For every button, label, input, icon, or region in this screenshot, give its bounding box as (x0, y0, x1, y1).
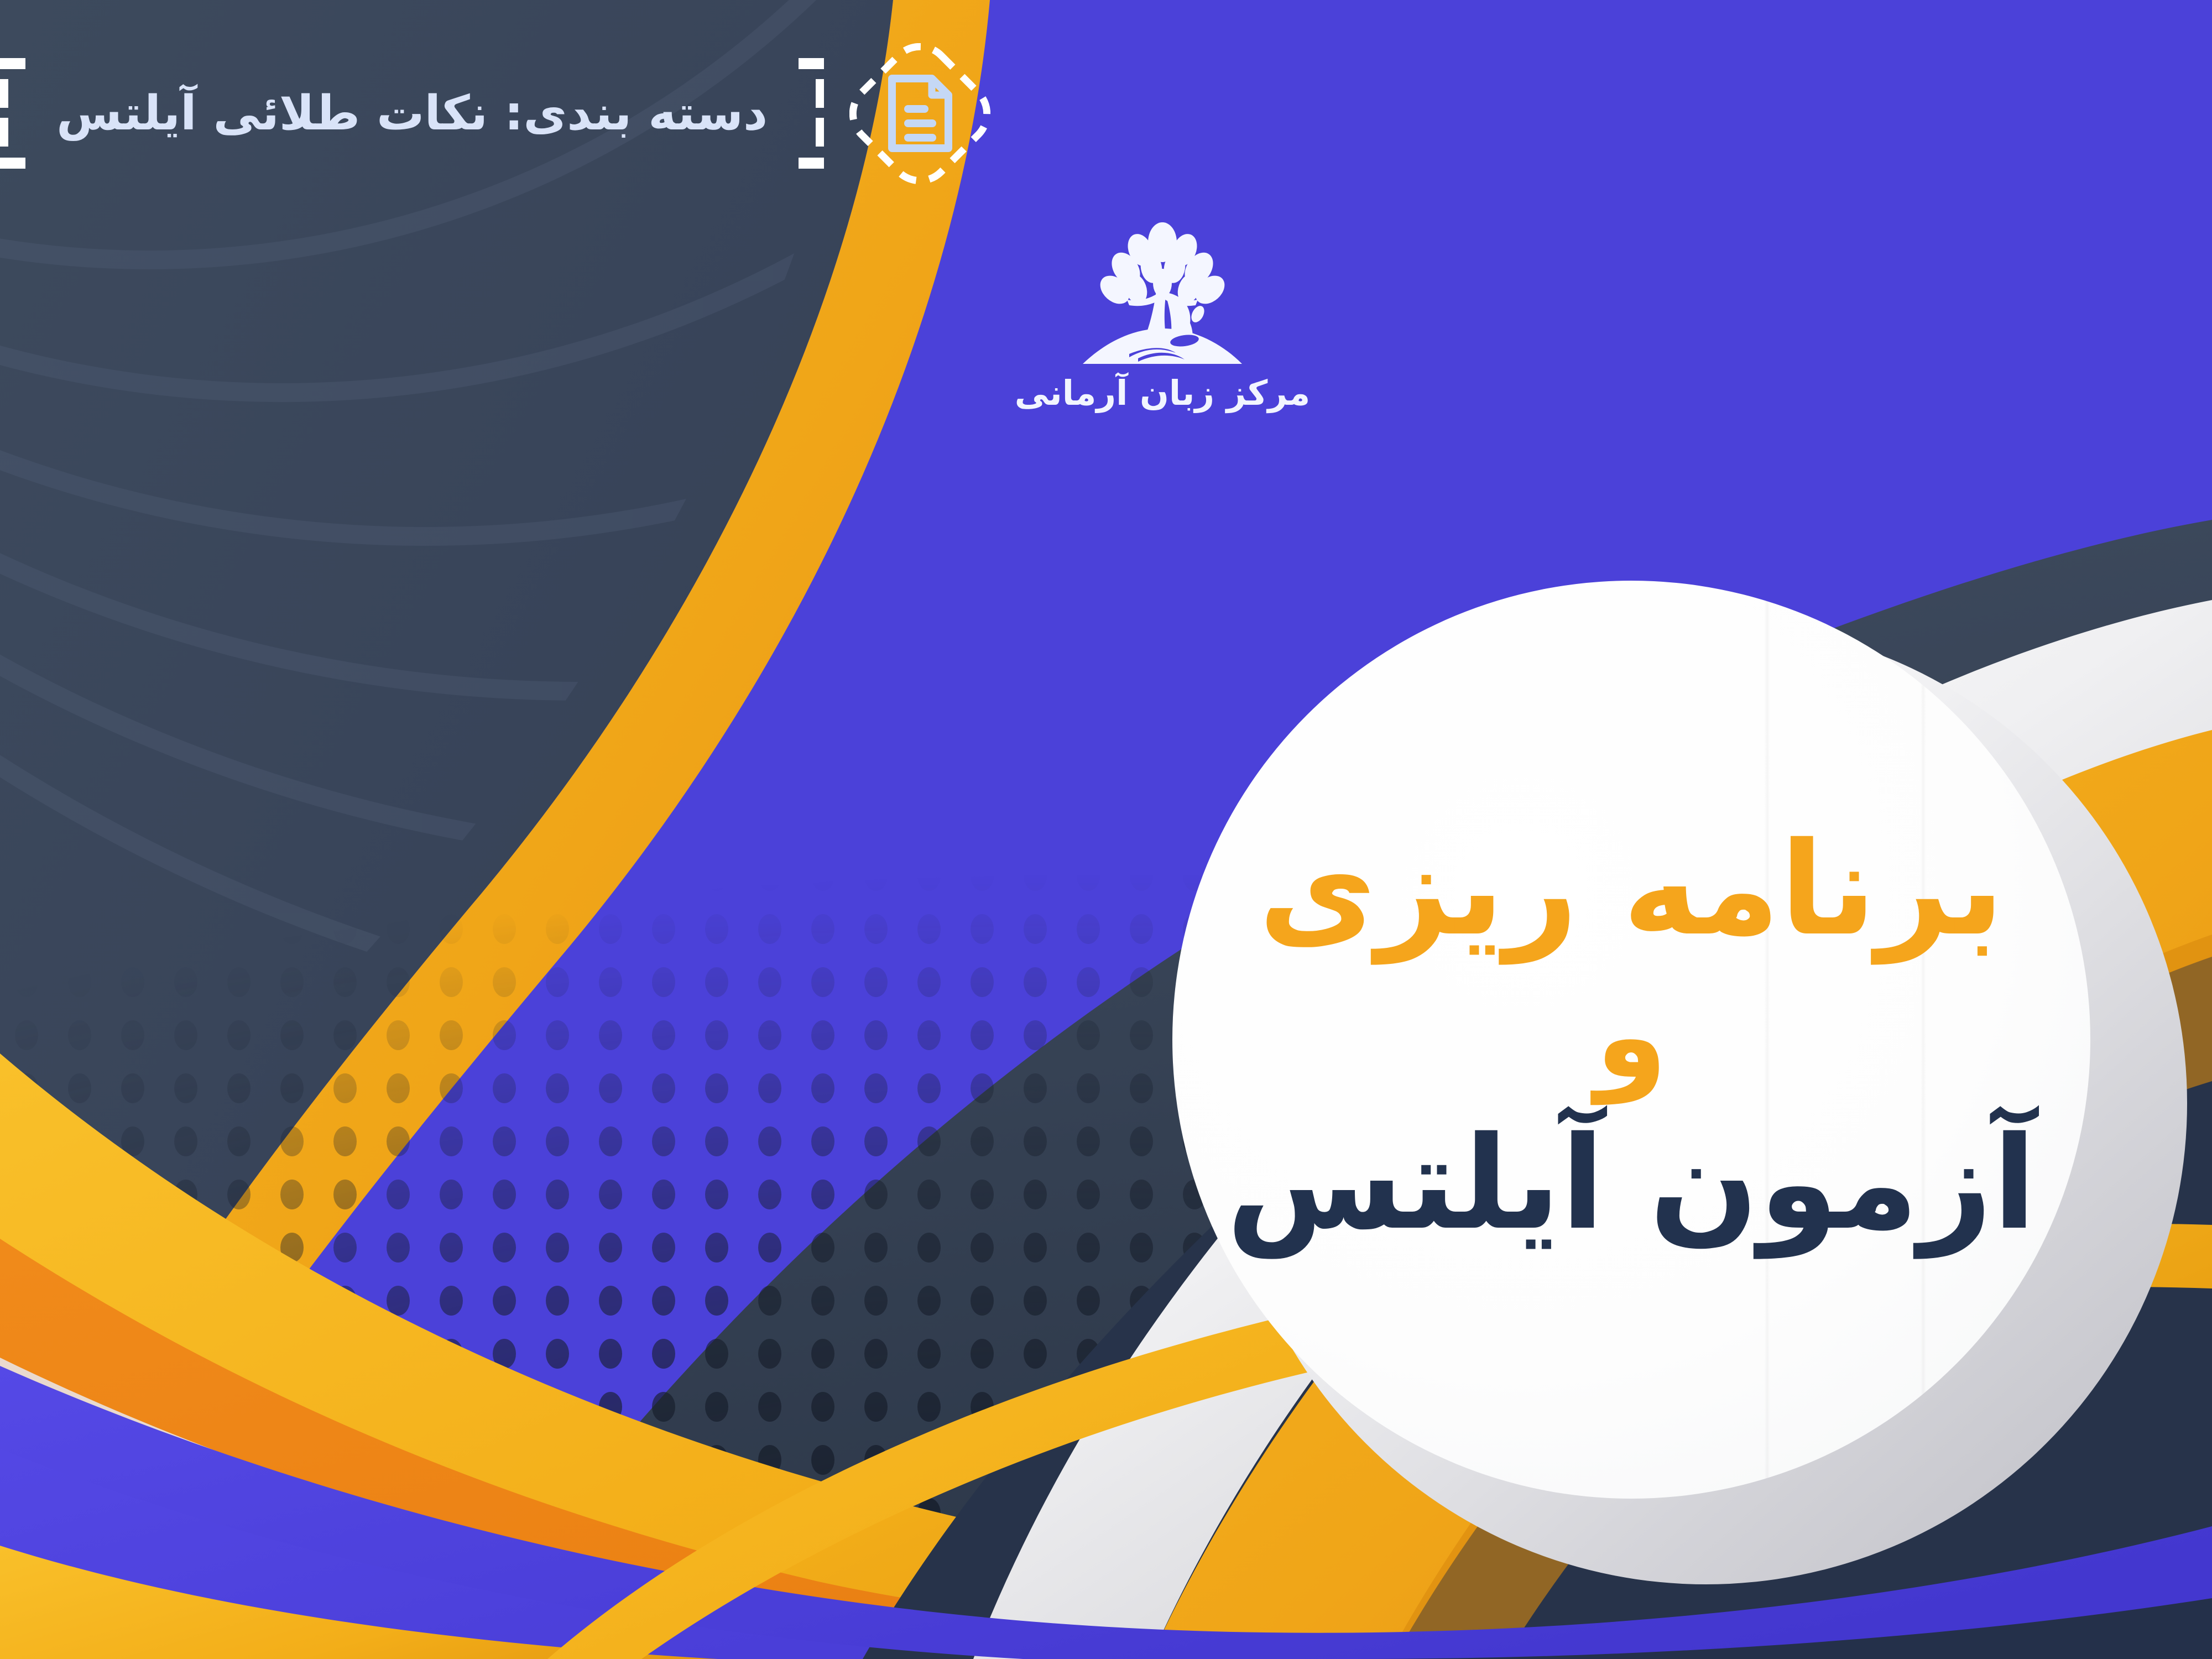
brand-name: مرکز زبان آرمانی (1015, 373, 1311, 413)
title-line-3: آزمون آیلتس (1227, 1117, 2037, 1251)
brand-logo[interactable]: مرکز زبان آرمانی (969, 221, 1356, 413)
poster-canvas: برنامه ریزی و آزمون آیلتس دسته بندی: نکا… (0, 0, 2212, 1659)
tree-on-hill-logo-icon (1074, 221, 1251, 376)
category-label: دسته بندی: نکات طلائی آیلتس (25, 90, 799, 137)
document-icon (888, 74, 953, 153)
title-line-2: و (1595, 976, 1668, 1098)
bracket-left-icon (0, 58, 25, 169)
title-circle: برنامه ریزی و آزمون آیلتس (1172, 581, 2090, 1499)
bracket-right-icon (799, 58, 824, 169)
category-badge[interactable] (849, 43, 990, 184)
category-header: دسته بندی: نکات طلائی آیلتس (0, 22, 2212, 205)
title-line-1: برنامه ریزی (1259, 822, 2004, 957)
